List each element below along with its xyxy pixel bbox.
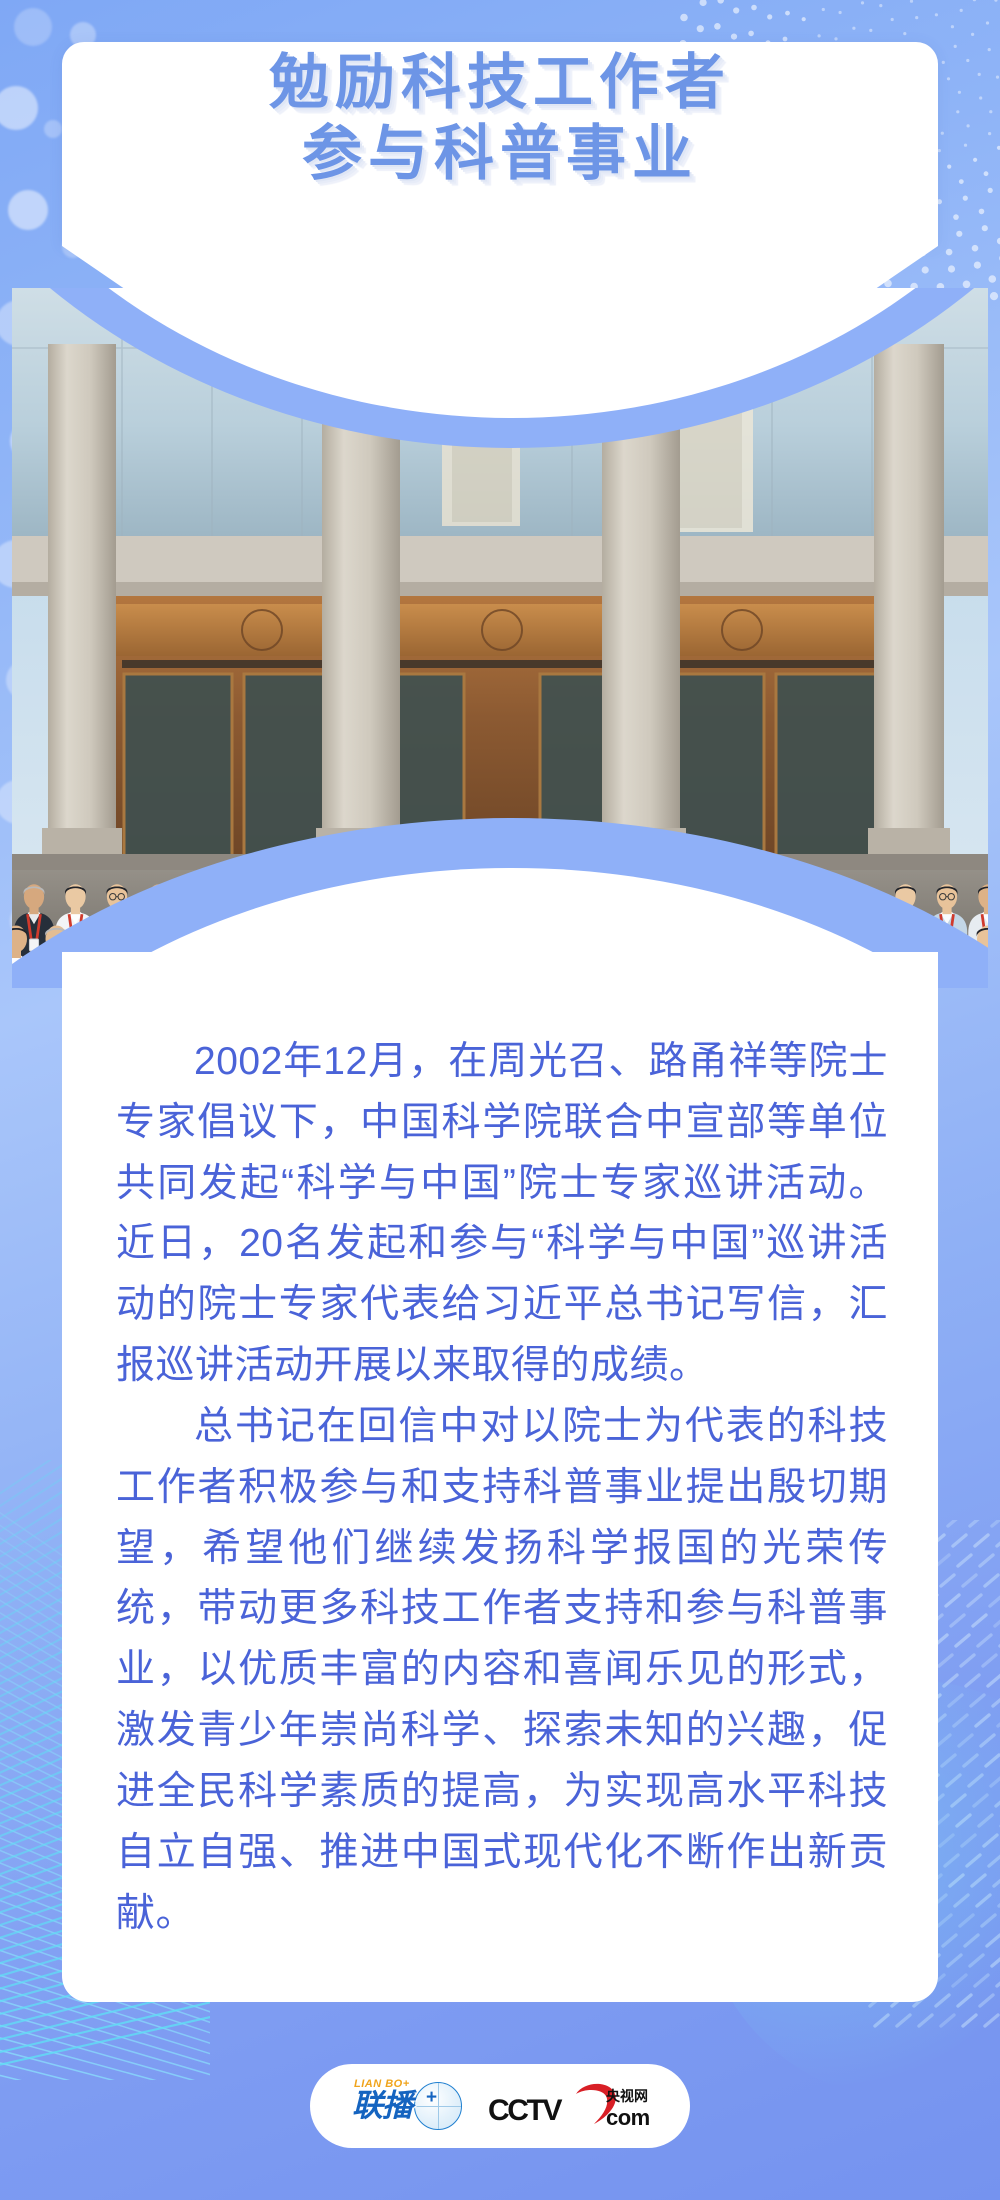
lianbo-wordmark: 联播: [352, 2090, 412, 2121]
cctv-wordmark: CCTV: [488, 2094, 560, 2128]
paragraph-1: 2002年12月，在周光召、路甬祥等院士专家倡议下，中国科学院联合中宣部等单位共…: [116, 1032, 888, 1397]
poster-root: 勉励科技工作者 参与科普事业: [0, 0, 1000, 2200]
cctv-chinese-name: 央视网: [606, 2086, 648, 2106]
header-card-skirt: [62, 246, 938, 288]
lianbo-plus-icon: +: [426, 2087, 437, 2109]
article-body: 2002年12月，在周光召、路甬祥等院士专家倡议下，中国科学院联合中宣部等单位共…: [116, 1032, 888, 1944]
footer-logo-pill: LIAN BO+ 联播 + CCTV 央视网 com: [310, 2064, 690, 2148]
group-photo: 院士专家代表集体合影，站在带有立柱和铜门的建筑前的台阶上: [12, 288, 988, 988]
paragraph-2: 总书记在回信中对以院士为代表的科技工作者积极参与和支持科普事业提出殷切期望，希望…: [116, 1397, 888, 1944]
title-line-1: 勉励科技工作者: [0, 48, 1000, 119]
page-title: 勉励科技工作者 参与科普事业: [0, 48, 1000, 190]
globe-icon: [414, 2082, 462, 2130]
article-card: 2002年12月，在周光召、路甬祥等院士专家倡议下，中国科学院联合中宣部等单位共…: [62, 952, 938, 2002]
title-line-2: 参与科普事业: [0, 119, 1000, 190]
cctv-com-text: com: [606, 2105, 650, 2131]
lianbo-logo[interactable]: LIAN BO+ 联播 +: [352, 2081, 462, 2131]
cctv-logo[interactable]: CCTV 央视网 com: [488, 2080, 648, 2132]
